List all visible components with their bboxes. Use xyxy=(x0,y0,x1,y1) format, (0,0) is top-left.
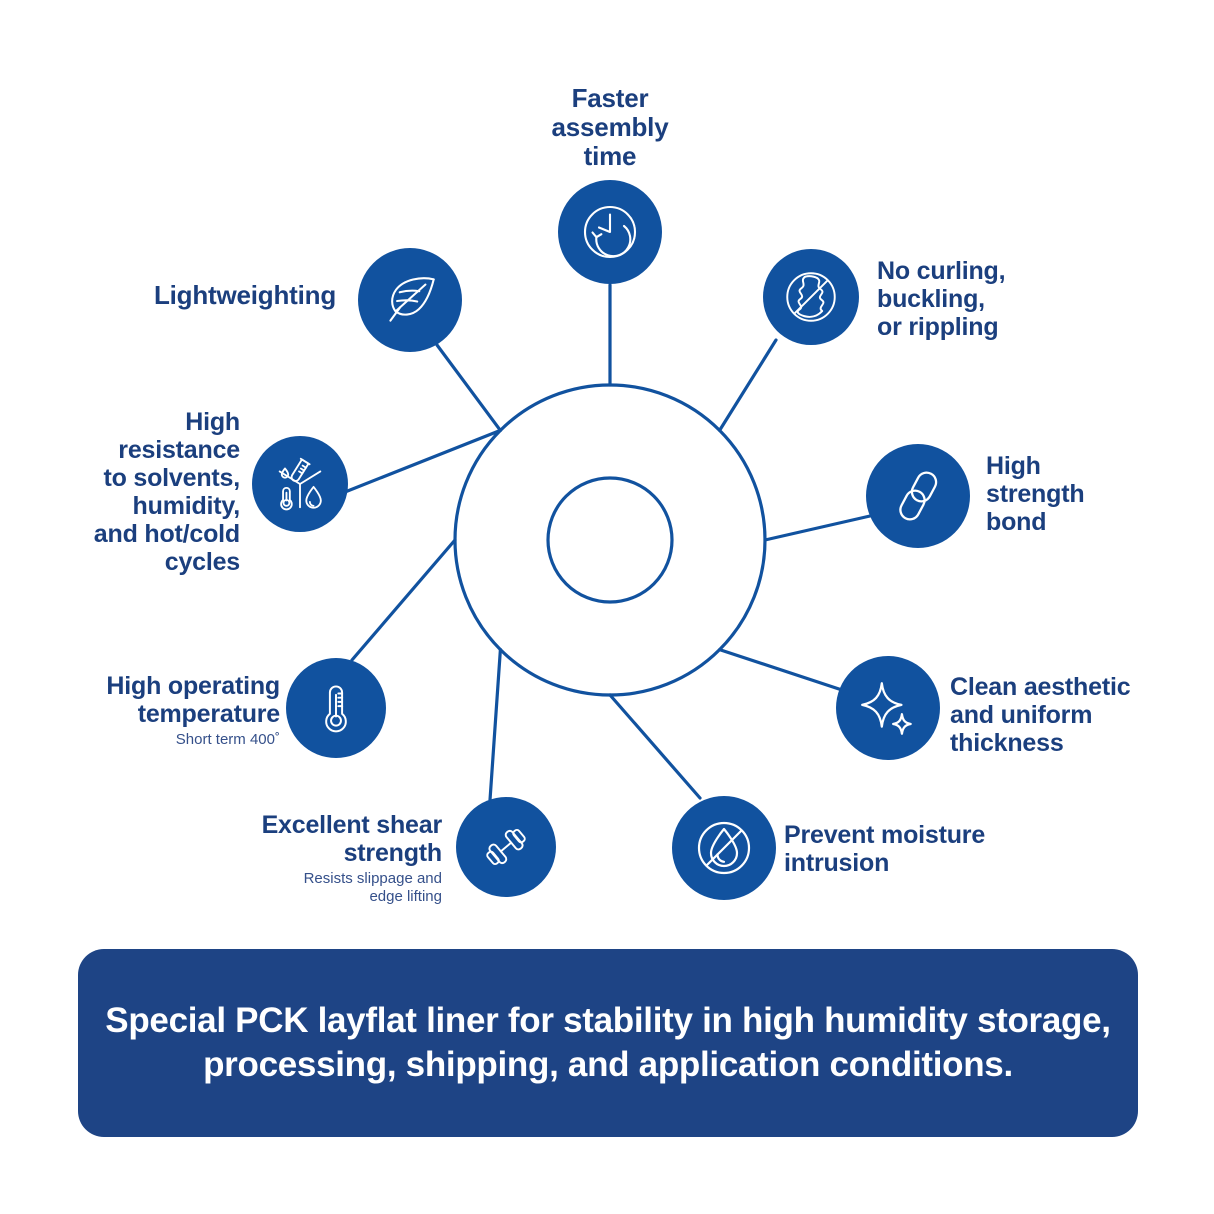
node-high-resistance[interactable] xyxy=(252,436,348,532)
label-line: Clean aesthetic xyxy=(950,673,1130,701)
label-high-strength-bond: High strength bond xyxy=(986,452,1214,536)
label-line: High xyxy=(986,452,1041,480)
label-line: strength xyxy=(986,480,1084,508)
spoke-no-curling xyxy=(720,340,776,430)
summary-banner: Special PCK layflat liner for stability … xyxy=(78,949,1138,1137)
node-no-curling-buckling-rippling[interactable] xyxy=(763,249,859,345)
node-high-operating-temperature[interactable] xyxy=(286,658,386,758)
label-line: bond xyxy=(986,508,1046,536)
label-line: temperature xyxy=(138,700,280,728)
label-line: High xyxy=(185,408,240,436)
label-line: time xyxy=(584,141,637,171)
no-droplet-icon xyxy=(692,816,756,880)
thermometer-icon xyxy=(306,678,366,738)
label-line: buckling, xyxy=(877,285,985,313)
label-lightweighting: Lightweighting xyxy=(60,281,336,310)
label-line: Prevent moisture xyxy=(784,821,985,849)
summary-banner-text: Special PCK layflat liner for stability … xyxy=(78,999,1138,1087)
node-clean-aesthetic-uniform-thickness[interactable] xyxy=(836,656,940,760)
sparkle-icon xyxy=(855,675,921,741)
label-faster-assembly-time: Faster assembly time xyxy=(460,84,760,171)
no-ripple-icon xyxy=(780,266,842,328)
sublabel-line: Resists slippage and xyxy=(304,870,442,887)
label-line: intrusion xyxy=(784,849,889,877)
spoke-lightweighting xyxy=(437,345,500,430)
hub-inner-circle xyxy=(548,478,672,602)
sublabel-line: edge lifting xyxy=(369,888,442,905)
spoke-clean-aesthetic xyxy=(720,650,842,690)
label-line: and hot/cold xyxy=(94,520,240,548)
label-line: No curling, xyxy=(877,257,1005,285)
label-line: and uniform xyxy=(950,701,1092,729)
label-line: cycles xyxy=(165,548,240,576)
clock-arrow-icon xyxy=(578,200,642,264)
label-high-operating-temperature: High operating temperature Short term 40… xyxy=(20,672,280,749)
label-line: Lightweighting xyxy=(154,280,336,310)
spoke-high-strength-bond xyxy=(765,516,870,540)
infographic-root: Faster assembly time No curling, bucklin… xyxy=(0,0,1214,1214)
label-line: to solvents, xyxy=(103,464,240,492)
label-excellent-shear-strength: Excellent shear strength Resists slippag… xyxy=(148,811,442,905)
spoke-prevent-moisture xyxy=(610,695,700,798)
label-line: assembly xyxy=(552,112,669,142)
label-sublabel: Short term 400˚ xyxy=(20,731,280,749)
chain-link-icon xyxy=(886,464,950,528)
spoke-high-resistance xyxy=(345,430,500,492)
node-lightweighting[interactable] xyxy=(358,248,462,352)
spoke-high-operating-temp xyxy=(352,540,455,660)
label-clean-aesthetic-uniform-thickness: Clean aesthetic and uniform thickness xyxy=(950,673,1214,757)
label-line: humidity, xyxy=(133,492,240,520)
spoke-excellent-shear xyxy=(490,650,500,800)
label-sublabel: Resists slippage and edge lifting xyxy=(148,870,442,905)
label-line: Excellent shear xyxy=(262,811,442,839)
label-line: or rippling xyxy=(877,313,998,341)
node-high-strength-bond[interactable] xyxy=(866,444,970,548)
label-line: Faster xyxy=(572,83,649,113)
label-line: resistance xyxy=(118,436,240,464)
label-no-curling-buckling-rippling: No curling, buckling, or rippling xyxy=(877,257,1177,341)
node-faster-assembly-time[interactable] xyxy=(558,180,662,284)
label-line: thickness xyxy=(950,729,1064,757)
node-prevent-moisture-intrusion[interactable] xyxy=(672,796,776,900)
node-excellent-shear-strength[interactable] xyxy=(456,797,556,897)
dumbbell-icon xyxy=(475,816,537,878)
label-prevent-moisture-intrusion: Prevent moisture intrusion xyxy=(784,821,1084,877)
solvent-humidity-temp-icon xyxy=(269,453,331,515)
feather-icon xyxy=(377,267,443,333)
label-line: High operating xyxy=(106,672,280,700)
label-line: strength xyxy=(344,839,442,867)
label-high-resistance: High resistance to solvents, humidity, a… xyxy=(20,408,240,576)
hub-outer-circle xyxy=(455,385,765,695)
